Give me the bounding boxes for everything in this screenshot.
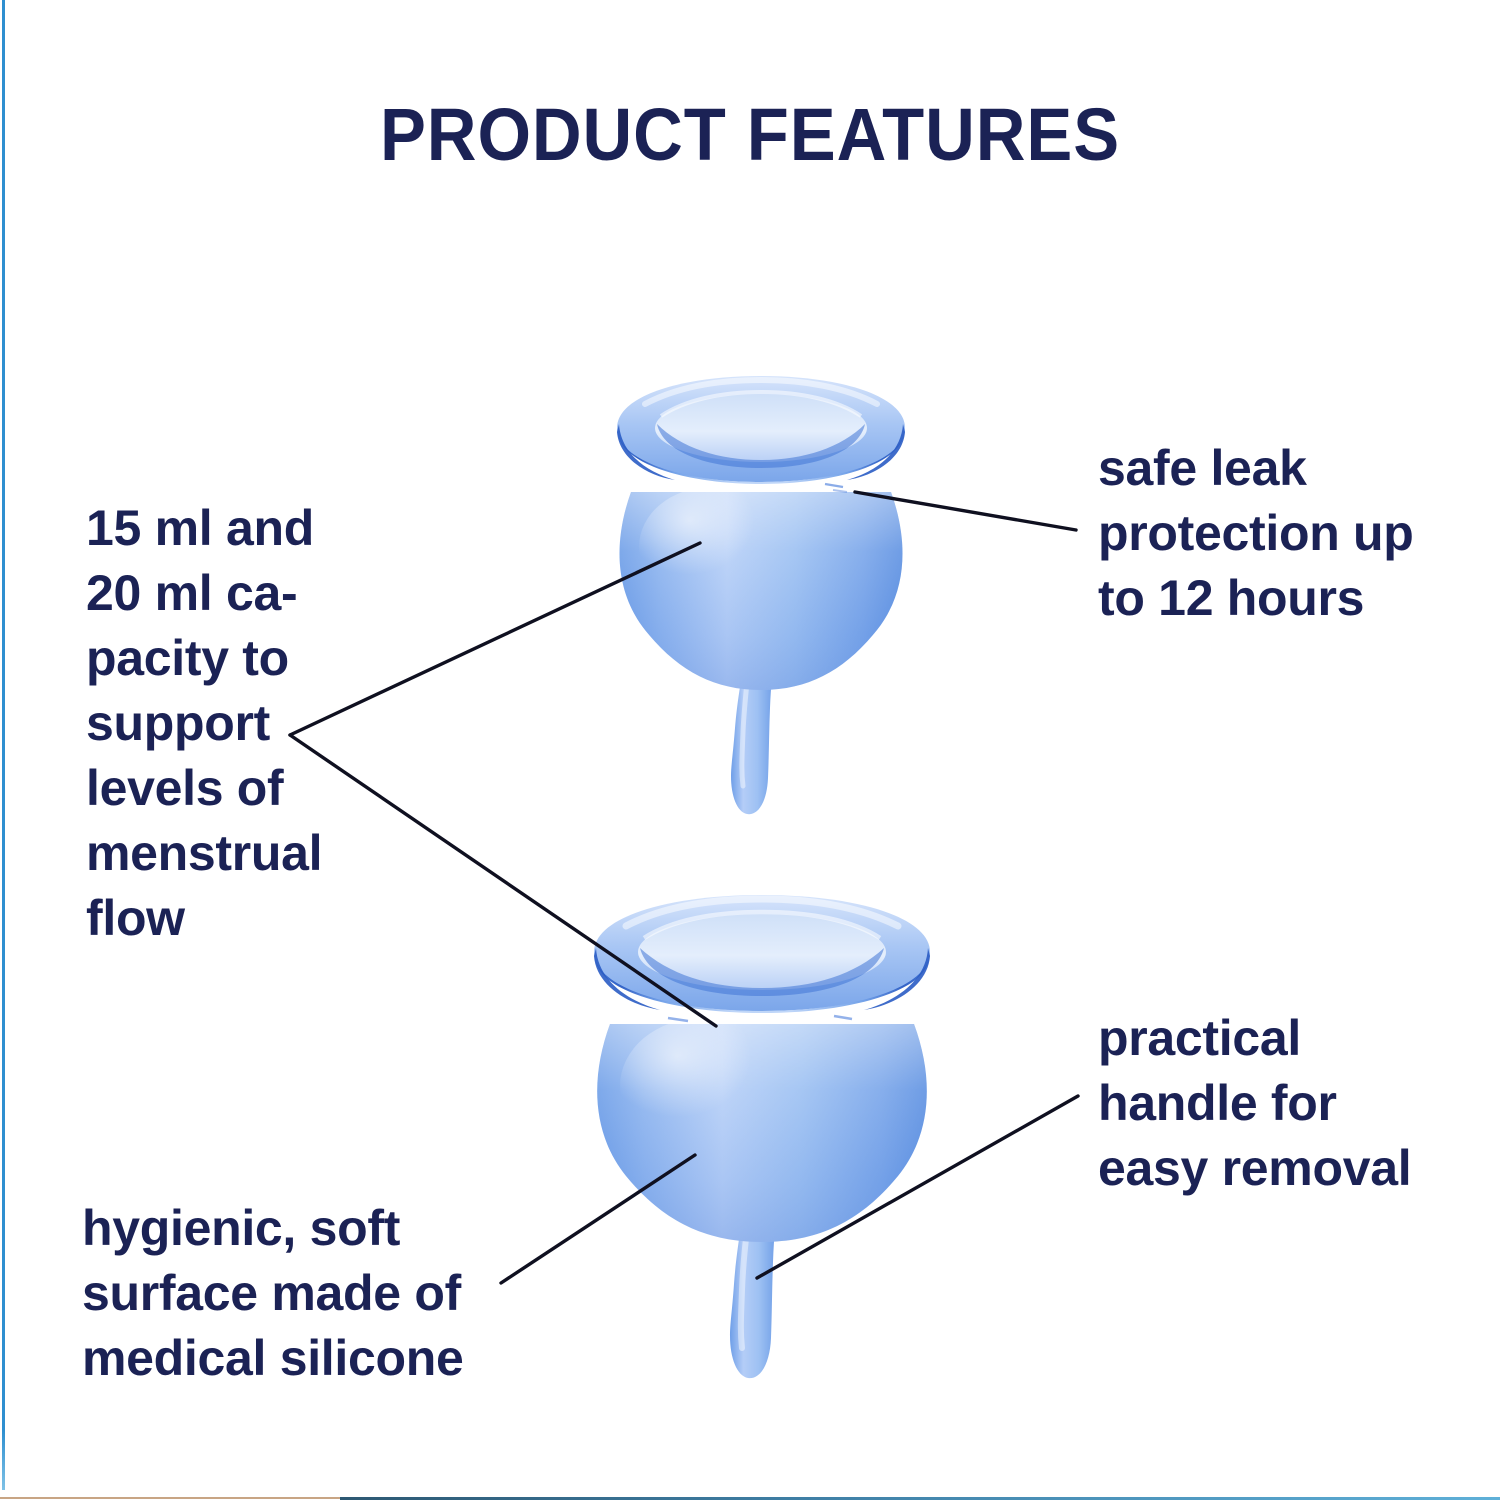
menstrual-cup-large-illustration (576, 890, 948, 1400)
callout-capacity-text: 15 ml and 20 ml ca- pacity to support le… (86, 496, 416, 951)
left-edge-rule (2, 0, 5, 1490)
callout-leak-protection-text: safe leak protection up to 12 hours (1098, 436, 1458, 631)
bottom-edge-rule-warm (0, 1497, 340, 1499)
menstrual-cup-small-illustration (601, 372, 921, 840)
infographic-canvas: PRODUCT FEATURES (0, 0, 1500, 1500)
callout-silicone-text: hygienic, soft surface made of medical s… (82, 1196, 532, 1391)
page-title: PRODUCT FEATURES (53, 92, 1448, 177)
callout-handle-text: practical handle for easy removal (1098, 1006, 1468, 1201)
